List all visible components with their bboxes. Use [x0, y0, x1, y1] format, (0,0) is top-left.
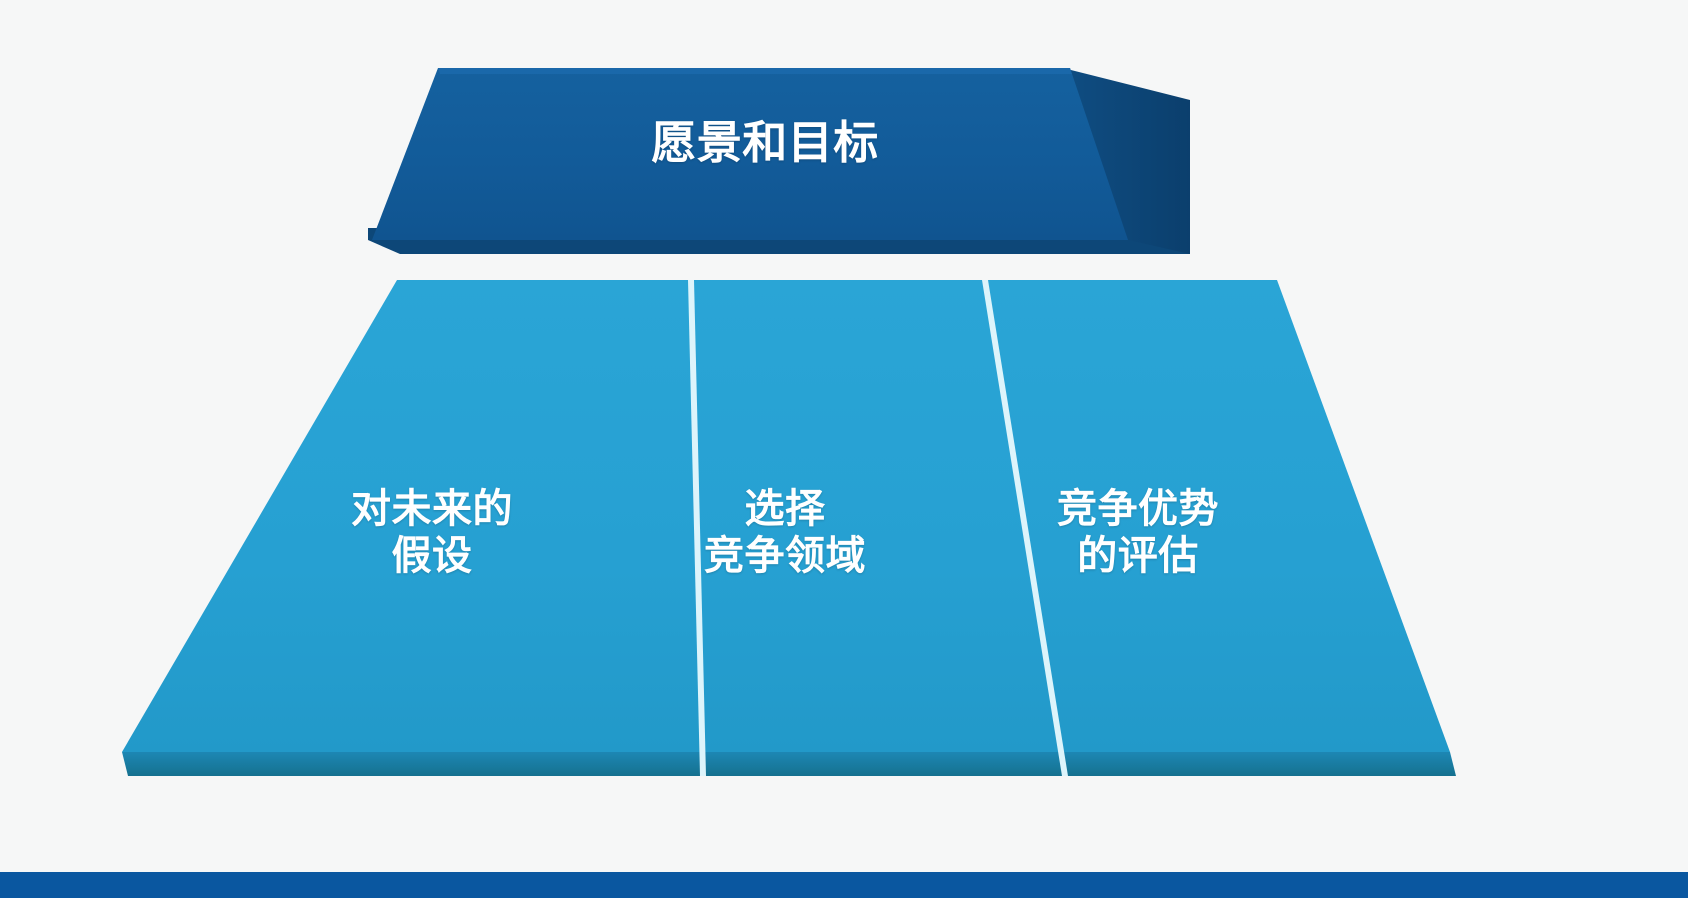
- bottom-accent-bar: [0, 872, 1688, 898]
- top-block-group: [368, 68, 1190, 254]
- base-panel-advantage-assessment[interactable]: [988, 280, 1450, 752]
- framework-diagram: [0, 0, 1688, 898]
- base-panel-assumptions[interactable]: [122, 280, 700, 752]
- base-group: [122, 280, 1456, 776]
- top-block-highlight: [438, 68, 1072, 74]
- top-block-face[interactable]: [372, 68, 1128, 240]
- base-bottom-edge: [122, 752, 1456, 776]
- slide-canvas: 愿景和目标 对未来的 假设 选择 竞争领域 竞争优势 的评估: [0, 0, 1688, 898]
